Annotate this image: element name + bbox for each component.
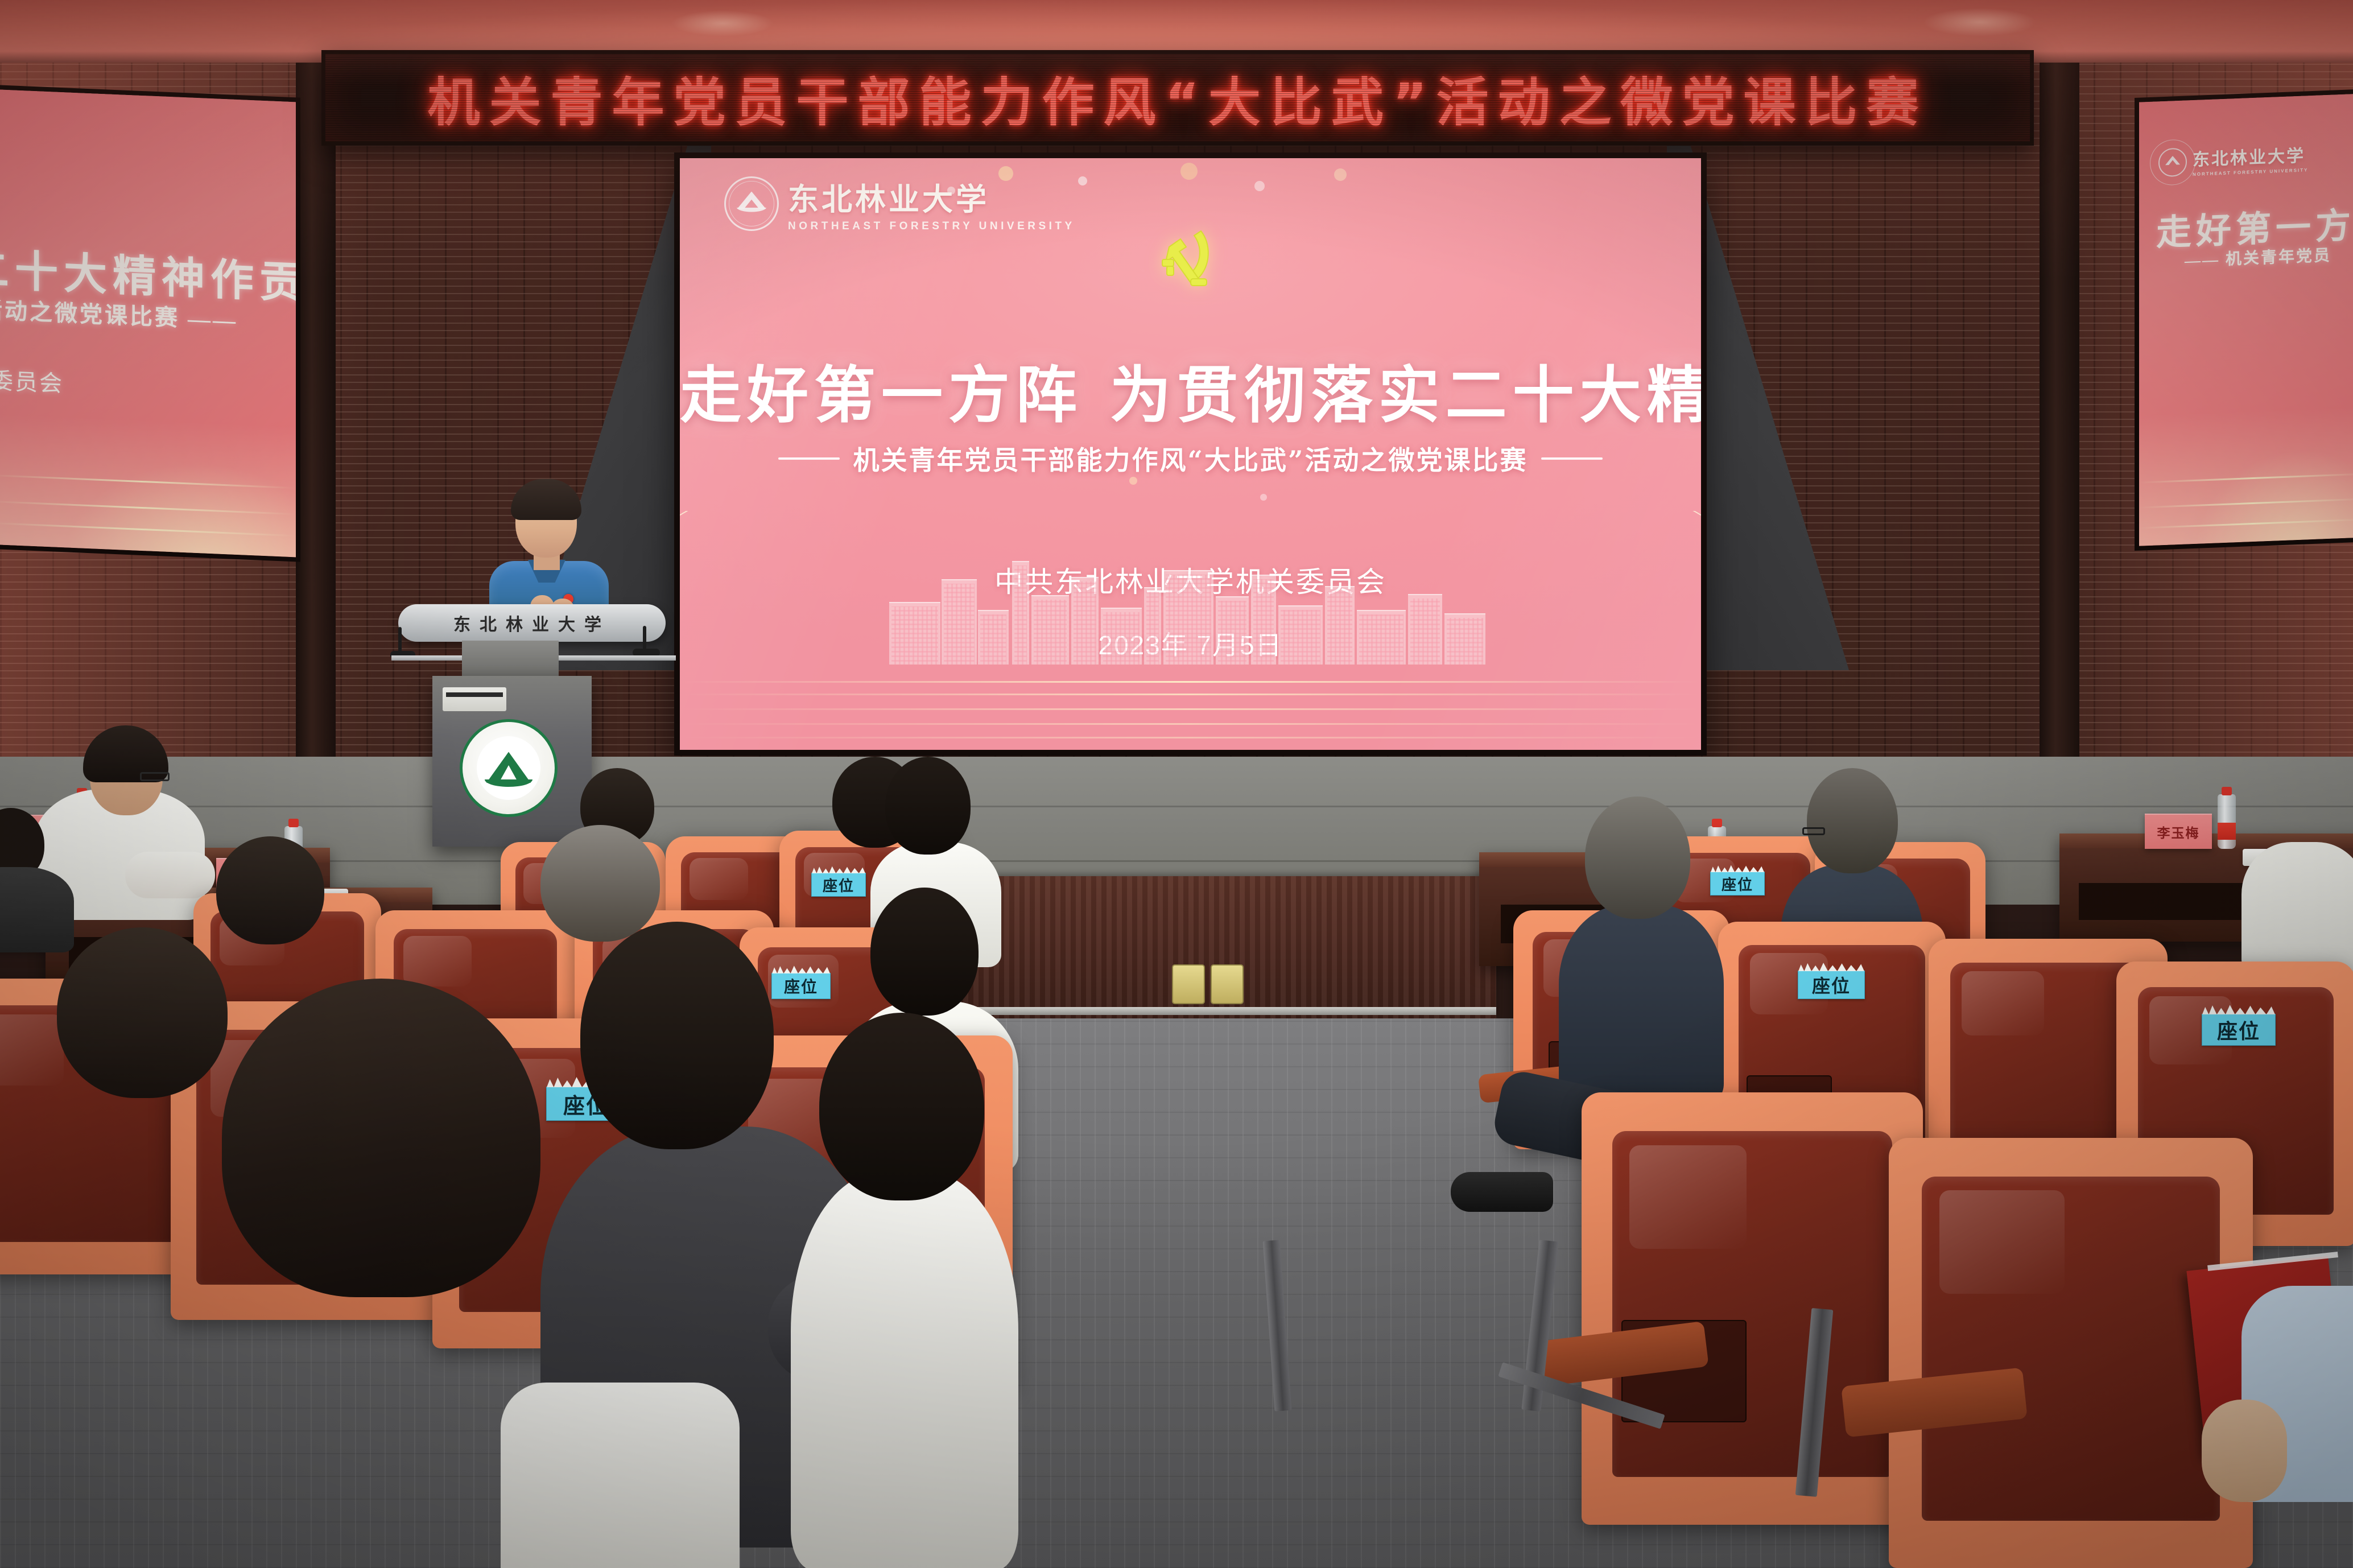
slide-confetti-dot xyxy=(1078,176,1087,185)
slide-confetti-dot xyxy=(1260,494,1267,501)
side-screen-left-line3: 关委员会 xyxy=(0,361,64,398)
slide-subtitle-row: 机关青年党员干部能力作风“大比武”活动之微党课比赛 xyxy=(680,440,1701,477)
skyline-building xyxy=(1012,561,1029,665)
audience-head xyxy=(819,1013,984,1200)
judge-namecard: 李玉梅 xyxy=(2145,814,2212,849)
slide-glow-line xyxy=(680,681,1701,683)
water-bottle xyxy=(2218,794,2236,849)
audience-head xyxy=(885,757,971,855)
cpc-emblem-icon xyxy=(1157,224,1225,301)
skyline-building xyxy=(1144,587,1161,665)
slide-logo-en: NORTHEAST FORESTRY UNIVERSITY xyxy=(788,220,1075,233)
subtitle-rule-left xyxy=(778,457,840,460)
audience-head xyxy=(1807,768,1898,873)
podium-body xyxy=(432,676,592,847)
speaker-hair xyxy=(511,479,581,520)
skyline-building xyxy=(1216,596,1249,665)
skyline-building xyxy=(1101,608,1142,665)
ceiling-downlight xyxy=(671,10,774,36)
slide-glow-line xyxy=(680,737,1701,738)
side-screen-right-logo-cn: 东北林业大学 xyxy=(2193,141,2308,171)
side-screen-right-logo: 东北林业大学 NORTHEAST FORESTRY UNIVERSITY xyxy=(2158,141,2308,178)
podium-desktop: 东北林业大学 xyxy=(398,604,666,642)
judge-right xyxy=(2241,797,2353,967)
judge-left-glasses xyxy=(140,772,170,781)
audience-hair-long xyxy=(222,979,540,1297)
podium-neck xyxy=(462,641,559,676)
seat-label: 座位 xyxy=(1798,971,1865,999)
judge-left-arm xyxy=(125,852,215,898)
slide-confetti-dot xyxy=(1129,477,1137,485)
slide-glow-line xyxy=(680,694,1701,695)
skyline-building xyxy=(1278,605,1323,665)
auditorium-photo: 二十大精神作贡献 ”活动之微党课比赛 —— 关委员会 东北林业大学 NORTHE… xyxy=(0,0,2353,1568)
speaker-presenter xyxy=(484,482,614,613)
skyline-building xyxy=(1325,586,1355,665)
foreground-person-left xyxy=(501,1383,740,1568)
floor-power-socket xyxy=(1172,964,1205,1004)
podium-desk-text: 东北林业大学 xyxy=(453,610,610,636)
audience-member-long-hair xyxy=(222,979,563,1377)
audience-shirt xyxy=(791,1172,1018,1568)
slide-title: 走好第一方阵 为贯彻落实二十大精神作贡献 xyxy=(680,346,1701,435)
slide-bottom-decoration xyxy=(680,511,1701,750)
floor-power-socket xyxy=(1211,964,1244,1004)
wall-seam xyxy=(0,860,2353,862)
wall-seam xyxy=(0,806,2353,807)
seat-label: 座位 xyxy=(2202,1014,2276,1046)
slide-confetti-dot xyxy=(1254,181,1265,191)
audience-member-white-shirt xyxy=(791,1013,1030,1568)
slide-nefu-logo: 东北林业大学 NORTHEAST FORESTRY UNIVERSITY xyxy=(724,174,1075,233)
slide-subtitle: 机关青年党员干部能力作风“大比武”活动之微党课比赛 xyxy=(853,440,1528,477)
subtitle-rule-right xyxy=(1541,457,1603,460)
audience-member xyxy=(57,927,245,1115)
foreground-hand xyxy=(2202,1400,2287,1502)
wall-pilaster-right xyxy=(2040,63,2079,819)
nefu-leaf-mark xyxy=(485,779,532,794)
slide-glow-line xyxy=(680,708,1701,710)
skyline-building xyxy=(1071,577,1099,665)
ceiling-downlight xyxy=(1923,8,2037,36)
side-screen-left: 二十大精神作贡献 ”活动之微党课比赛 —— 关委员会 xyxy=(0,89,296,558)
side-screen-right: 东北林业大学 NORTHEAST FORESTRY UNIVERSITY 走好第… xyxy=(2139,93,2353,546)
skyline-building xyxy=(1163,570,1213,665)
foreground-person-right xyxy=(2241,1286,2353,1568)
podium-equipment-sticker xyxy=(443,687,506,711)
slide-logo-cn: 东北林业大学 xyxy=(788,174,1075,219)
judge-right-shirt xyxy=(2241,842,2353,973)
led-scrolling-banner: 机关青年党员干部能力作风“大比武”活动之微党课比赛 xyxy=(321,50,2034,146)
nefu-mountain-mark xyxy=(2165,155,2180,168)
skyline-building xyxy=(1251,575,1276,665)
slide-confetti-dot xyxy=(1334,168,1347,181)
nefu-leaf-mark xyxy=(737,208,766,217)
audience-shirt xyxy=(1559,905,1724,1104)
audience-shoe xyxy=(1451,1172,1553,1212)
slide-glow-line xyxy=(680,723,1701,725)
led-banner-text: 机关青年党员干部能力作风“大比武”活动之微党课比赛 xyxy=(428,60,1928,136)
slide-confetti-dot xyxy=(1180,163,1198,180)
audience-head xyxy=(1585,797,1690,919)
nefu-logo-ring xyxy=(2158,147,2187,177)
judge-left-second xyxy=(0,808,63,933)
wall-pilaster-left xyxy=(296,63,336,819)
nefu-podium-badge xyxy=(460,719,558,817)
audience-glasses xyxy=(1802,827,1825,835)
skyline-building xyxy=(1031,595,1069,665)
nefu-logo-ring xyxy=(724,176,779,231)
seat[interactable] xyxy=(1582,1092,1923,1525)
nefu-badge-inner xyxy=(477,736,540,800)
main-projection-screen: 东北林业大学 NORTHEAST FORESTRY UNIVERSITY 走好第… xyxy=(674,152,1707,756)
audience-head xyxy=(57,927,228,1098)
foreground-sleeve xyxy=(501,1383,740,1568)
audience-head xyxy=(580,922,774,1149)
seat-back xyxy=(1922,1177,2220,1521)
side-screen-right-line2: —— 机关青年党员 xyxy=(2185,243,2331,271)
